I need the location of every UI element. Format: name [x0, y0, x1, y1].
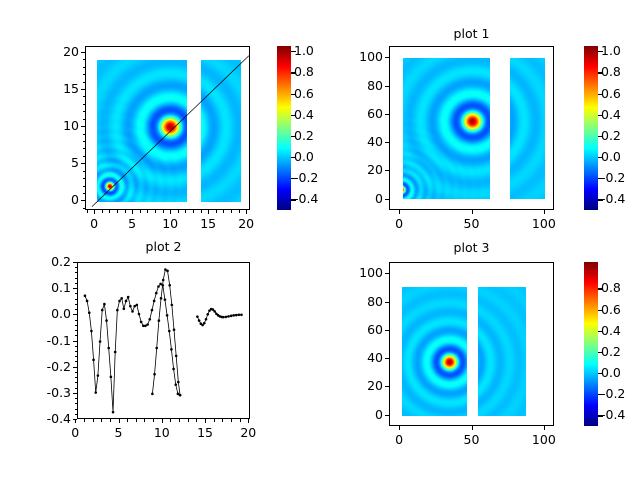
plot3-xticklabel: 50 — [447, 432, 497, 447]
plot0-xticklabel: 20 — [221, 216, 271, 231]
plot0-cbar-ticklabel: 0.0 — [294, 149, 334, 164]
plot2-ytick-minor — [75, 372, 78, 373]
plot2-ytick-minor — [75, 293, 78, 294]
plot3-xtick — [472, 426, 473, 430]
plot0-ytick-minor — [83, 126, 86, 127]
figure-canvas: 0510152005101520-0.4-0.20.00.20.40.60.81… — [0, 0, 640, 480]
plot0-xtick-minor — [193, 210, 194, 213]
plot0-ytick-minor — [83, 82, 86, 83]
plot2-xtick-minor — [153, 419, 154, 422]
plot0-ytick-minor — [83, 141, 86, 142]
plot1-xtick — [472, 210, 473, 214]
plot3-yticklabel: 40 — [329, 350, 383, 365]
plot0-ytick-minor — [83, 89, 86, 90]
sinc-patch-right-canvas — [510, 58, 545, 199]
plot1-ytick — [385, 86, 389, 87]
plot0-cbar-ticklabel: -0.2 — [294, 170, 334, 185]
plot2-ytick-minor — [75, 361, 78, 362]
plot2-ytick-minor — [75, 304, 78, 305]
plot3-colorbar-canvas — [584, 262, 598, 426]
plot1-xtick — [399, 210, 400, 214]
plot2-yticklabel: -0.3 — [17, 385, 71, 400]
plot2-ytick-minor — [75, 272, 78, 273]
plot2-xtick-minor — [101, 419, 102, 422]
plot2-ytick-minor — [75, 356, 78, 357]
plot3-cbar-ticklabel: 0.8 — [601, 280, 640, 295]
plot2-xtick-minor — [119, 419, 120, 422]
plot0-xtick-minor — [147, 210, 148, 213]
plot0-yticklabel: 10 — [25, 118, 79, 133]
plot0-ytick-minor — [83, 134, 86, 135]
plot0-xtick-minor — [163, 210, 164, 213]
plot2-ytick-minor — [75, 403, 78, 404]
plot3-ytick — [385, 386, 389, 387]
plot1-ytick — [385, 199, 389, 200]
plot1-cbar-ticklabel: 0.8 — [601, 64, 640, 79]
plot1-xtick — [544, 210, 545, 214]
plot2-ytick-minor — [75, 414, 78, 415]
plot1-cbar-ticklabel: 1.0 — [601, 43, 640, 58]
plot0-ytick-minor — [83, 74, 86, 75]
plot3-axes — [389, 262, 554, 426]
plot2-ytick-minor — [75, 393, 78, 394]
plot2-ytick-minor — [75, 367, 78, 368]
plot1-yticklabel: 60 — [329, 106, 383, 121]
plot2-ytick-minor — [75, 283, 78, 284]
plot2-ytick-minor — [75, 409, 78, 410]
plot2-xtick-minor — [127, 419, 128, 422]
plot2-yticklabel: 0.1 — [17, 280, 71, 295]
plot3-ytick — [385, 358, 389, 359]
plot0-ytick-minor — [83, 119, 86, 120]
plot2-ytick-minor — [75, 330, 78, 331]
plot3-cbar-ticklabel: 0.2 — [601, 344, 640, 359]
plot2-xtick-minor — [170, 419, 171, 422]
plot0-ytick-minor — [83, 96, 86, 97]
plot3-xticklabel: 100 — [519, 432, 569, 447]
plot2-ytick — [73, 262, 77, 263]
plot1-yticklabel: 20 — [329, 162, 383, 177]
plot0-cbar-ticklabel: 0.8 — [294, 64, 334, 79]
plot0-xtick-minor — [125, 210, 126, 213]
plot2-ytick-minor — [75, 419, 78, 420]
plot0-xtick-minor — [155, 210, 156, 213]
sinc-patch-left-canvas — [402, 287, 467, 416]
plot2-ytick-minor — [75, 288, 78, 289]
plot2-yticklabel: -0.4 — [17, 411, 71, 426]
plot0-ytick-minor — [83, 156, 86, 157]
plot2-xtick-minor — [84, 419, 85, 422]
plot2-xtick-minor — [110, 419, 111, 422]
plot2-xtick-minor — [93, 419, 94, 422]
plot0-xtick-minor — [94, 210, 95, 213]
plot3-cbar-ticklabel: 0.0 — [601, 365, 640, 380]
plot3-yticklabel: 60 — [329, 322, 383, 337]
plot0-ytick-minor — [83, 104, 86, 105]
plot3-colorbar — [584, 262, 598, 426]
plot0-xtick-minor — [231, 210, 232, 213]
plot2-ytick-minor — [75, 341, 78, 342]
plot0-cbar-ticklabel: -0.4 — [294, 191, 334, 206]
plot1-cbar-ticklabel: -0.2 — [601, 170, 640, 185]
plot2-xtick-minor — [179, 419, 180, 422]
plot3-cbar-ticklabel: 0.4 — [601, 323, 640, 338]
plot3-cbar-ticklabel: 0.6 — [601, 302, 640, 317]
plot3-ytick — [385, 273, 389, 274]
plot1-cbar-ticklabel: 0.2 — [601, 128, 640, 143]
plot0-xtick-minor — [185, 210, 186, 213]
plot2-ytick-minor — [75, 325, 78, 326]
plot0-yticklabel: 20 — [25, 44, 79, 59]
plot0-xtick-minor — [201, 210, 202, 213]
plot1-yticklabel: 40 — [329, 134, 383, 149]
sinc-patch-right — [478, 287, 526, 416]
plot2-xtick-minor — [162, 419, 163, 422]
plot2-ytick-minor — [75, 309, 78, 310]
plot0-ytick-minor — [83, 67, 86, 68]
plot0-ytick-minor — [83, 193, 86, 194]
plot2-xtick-minor — [144, 419, 145, 422]
plot2-title: plot 2 — [77, 239, 250, 257]
plot3-xtick — [544, 426, 545, 430]
plot0-ytick-minor — [83, 52, 86, 53]
plot0-colorbar — [277, 46, 291, 210]
plot0-xtick-minor — [246, 210, 247, 213]
plot2-ytick-minor — [75, 377, 78, 378]
plot1-ytick — [385, 114, 389, 115]
plot2-yticklabel: 0.2 — [17, 254, 71, 269]
plot2-xtick-minor — [222, 419, 223, 422]
plot2-xticklabel: 20 — [223, 425, 273, 440]
plot2-ytick-minor — [75, 351, 78, 352]
plot2-xtick-minor — [231, 419, 232, 422]
plot2-yticklabel: 0.0 — [17, 306, 71, 321]
plot0-ytick-minor — [83, 59, 86, 60]
plot1-yticklabel: 80 — [329, 78, 383, 93]
plot0-ytick-minor — [83, 186, 86, 187]
plot3-ytick — [385, 302, 389, 303]
plot3-yticklabel: 0 — [329, 407, 383, 422]
plot0-xtick-minor — [117, 210, 118, 213]
plot0-xtick-minor — [102, 210, 103, 213]
plot2-lines — [78, 263, 250, 419]
plot0-ytick-minor — [83, 171, 86, 172]
plot3-yticklabel: 80 — [329, 294, 383, 309]
plot2-ytick-minor — [75, 320, 78, 321]
plot2-ytick-minor — [75, 335, 78, 336]
plot0-yticklabel: 15 — [25, 81, 79, 96]
plot2-yticklabel: -0.1 — [17, 333, 71, 348]
plot1-title: plot 1 — [389, 26, 554, 44]
plot1-cbar-ticklabel: 0.4 — [601, 107, 640, 122]
plot3-cbar-ticklabel: -0.2 — [601, 386, 640, 401]
plot0-xtick-minor — [140, 210, 141, 213]
plot3-yticklabel: 20 — [329, 378, 383, 393]
plot0-ytick-minor — [83, 200, 86, 201]
plot0-xtick-minor — [87, 210, 88, 213]
plot3-ytick — [385, 415, 389, 416]
plot0-lines — [86, 47, 250, 210]
plot0-xtick-minor — [170, 210, 171, 213]
plot2-xtick-minor — [136, 419, 137, 422]
plot2-yticklabel: -0.2 — [17, 359, 71, 374]
plot3-xtick — [399, 426, 400, 430]
plot2-ytick-minor — [75, 388, 78, 389]
sinc-patch-right-canvas — [478, 287, 526, 416]
plot2-xtick-minor — [205, 419, 206, 422]
plot0-xtick-minor — [132, 210, 133, 213]
plot2-ytick-minor — [75, 278, 78, 279]
plot1-yticklabel: 0 — [329, 191, 383, 206]
plot0-xtick-minor — [216, 210, 217, 213]
plot0-ytick-minor — [83, 208, 86, 209]
plot0-xtick-minor — [239, 210, 240, 213]
sinc-patch-left — [402, 287, 467, 416]
sinc-patch-right — [510, 58, 545, 199]
plot0-xtick-minor — [178, 210, 179, 213]
plot0-xtick-minor — [109, 210, 110, 213]
plot2-ytick-minor — [75, 346, 78, 347]
plot2-ytick-minor — [75, 267, 78, 268]
plot0-cbar-ticklabel: 1.0 — [294, 43, 334, 58]
plot1-colorbar — [584, 46, 598, 210]
plot2-ytick-minor — [75, 398, 78, 399]
plot2-xtick-minor — [196, 419, 197, 422]
plot2-xtick-minor — [214, 419, 215, 422]
plot0-axes — [85, 46, 250, 210]
plot1-xticklabel: 100 — [519, 216, 569, 231]
plot0-xtick-minor — [223, 210, 224, 213]
plot0-xtick-minor — [208, 210, 209, 213]
plot1-cbar-ticklabel: 0.6 — [601, 86, 640, 101]
plot2-axes — [77, 262, 250, 419]
plot1-yticklabel: 100 — [329, 49, 383, 64]
plot2-ytick-minor — [75, 299, 78, 300]
plot1-ytick — [385, 170, 389, 171]
plot0-cbar-ticklabel: 0.4 — [294, 107, 334, 122]
plot0-yticklabel: 0 — [25, 192, 79, 207]
plot1-xticklabel: 50 — [447, 216, 497, 231]
plot0-ytick-minor — [83, 111, 86, 112]
sinc-patch-left — [403, 58, 490, 199]
plot3-xticklabel: 0 — [374, 432, 424, 447]
plot3-yticklabel: 100 — [329, 265, 383, 280]
plot1-ytick — [385, 142, 389, 143]
plot0-ytick-minor — [83, 163, 86, 164]
plot2-ytick-minor — [75, 314, 78, 315]
plot0-ytick-minor — [83, 148, 86, 149]
plot0-cbar-ticklabel: 0.2 — [294, 128, 334, 143]
plot1-ytick — [385, 57, 389, 58]
plot0-cbar-ticklabel: 0.6 — [294, 86, 334, 101]
plot0-colorbar-canvas — [277, 46, 291, 210]
plot2-xtick-minor — [188, 419, 189, 422]
plot1-axes — [389, 46, 554, 210]
plot2-xtick-minor — [248, 419, 249, 422]
plot0-ytick-minor — [83, 178, 86, 179]
plot2-xtick-minor — [240, 419, 241, 422]
plot1-cbar-ticklabel: -0.4 — [601, 191, 640, 206]
plot3-title: plot 3 — [389, 240, 554, 258]
plot0-yticklabel: 5 — [25, 155, 79, 170]
plot1-colorbar-canvas — [584, 46, 598, 210]
plot3-ytick — [385, 330, 389, 331]
sinc-patch-left-canvas — [403, 58, 490, 199]
plot2-ytick-minor — [75, 382, 78, 383]
plot3-cbar-ticklabel: -0.4 — [601, 407, 640, 422]
plot1-cbar-ticklabel: 0.0 — [601, 149, 640, 164]
plot1-xticklabel: 0 — [374, 216, 424, 231]
